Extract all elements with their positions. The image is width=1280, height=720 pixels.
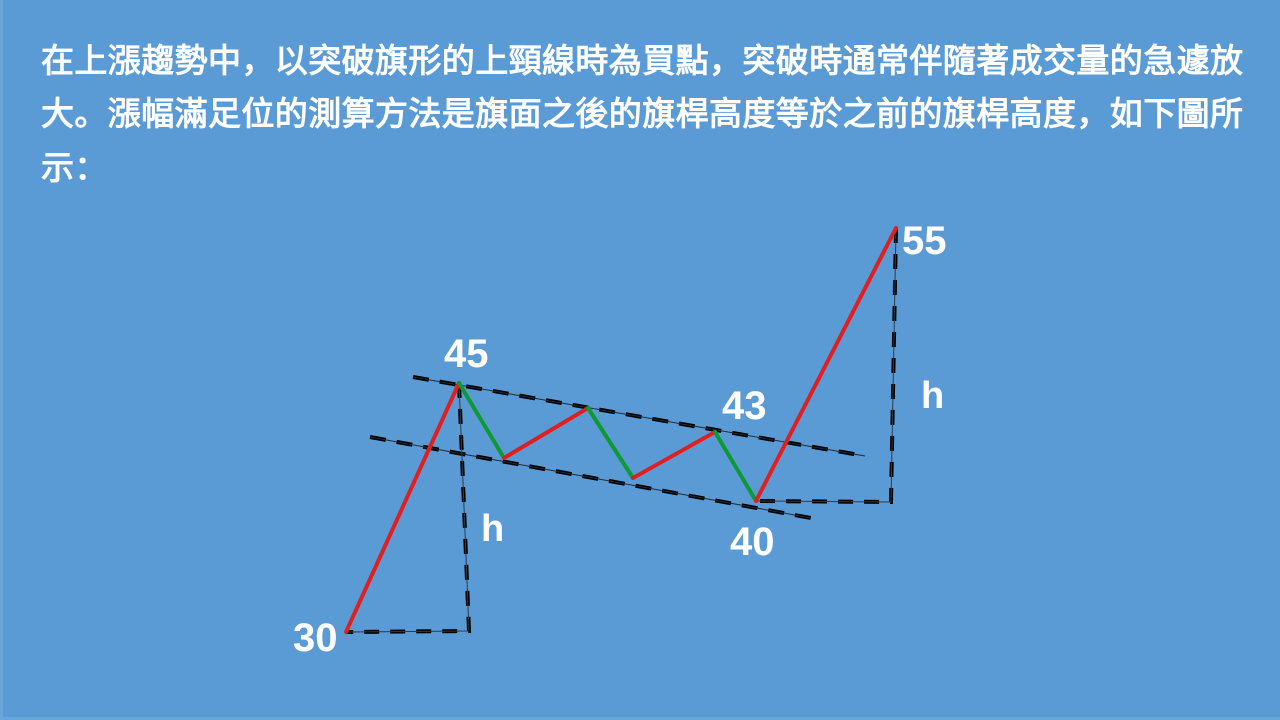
height-label-left: h — [481, 510, 504, 548]
target-label: 55 — [902, 221, 947, 261]
flag-zigzag-up-1 — [504, 408, 588, 458]
slide-canvas: 在上漲趨勢中，以突破旗形的上頸線時為買點，突破時通常伴隨著成交量的急遽放大。漲幅… — [0, 0, 1280, 720]
flag-zigzag-down-1 — [459, 383, 504, 458]
flag-lower-trendline-hairline — [370, 437, 811, 518]
flagpole-up-line — [346, 383, 459, 632]
flagpole-top-label: 45 — [444, 334, 489, 374]
flag-pattern-diagram — [3, 0, 1280, 720]
flag-zigzag-up-2 — [633, 432, 715, 478]
price-action-lines — [346, 228, 896, 632]
breakout-up-line — [756, 228, 896, 501]
flagpole-start-label: 30 — [293, 618, 338, 658]
flag-channel-guides — [370, 377, 865, 518]
flag-zigzag-down-3 — [715, 432, 756, 501]
height-label-right: h — [921, 377, 944, 415]
flag-breakout-label: 40 — [730, 522, 775, 562]
flag-upper-label: 43 — [722, 386, 767, 426]
height-brackets — [346, 228, 896, 632]
flag-zigzag-down-2 — [588, 408, 633, 478]
